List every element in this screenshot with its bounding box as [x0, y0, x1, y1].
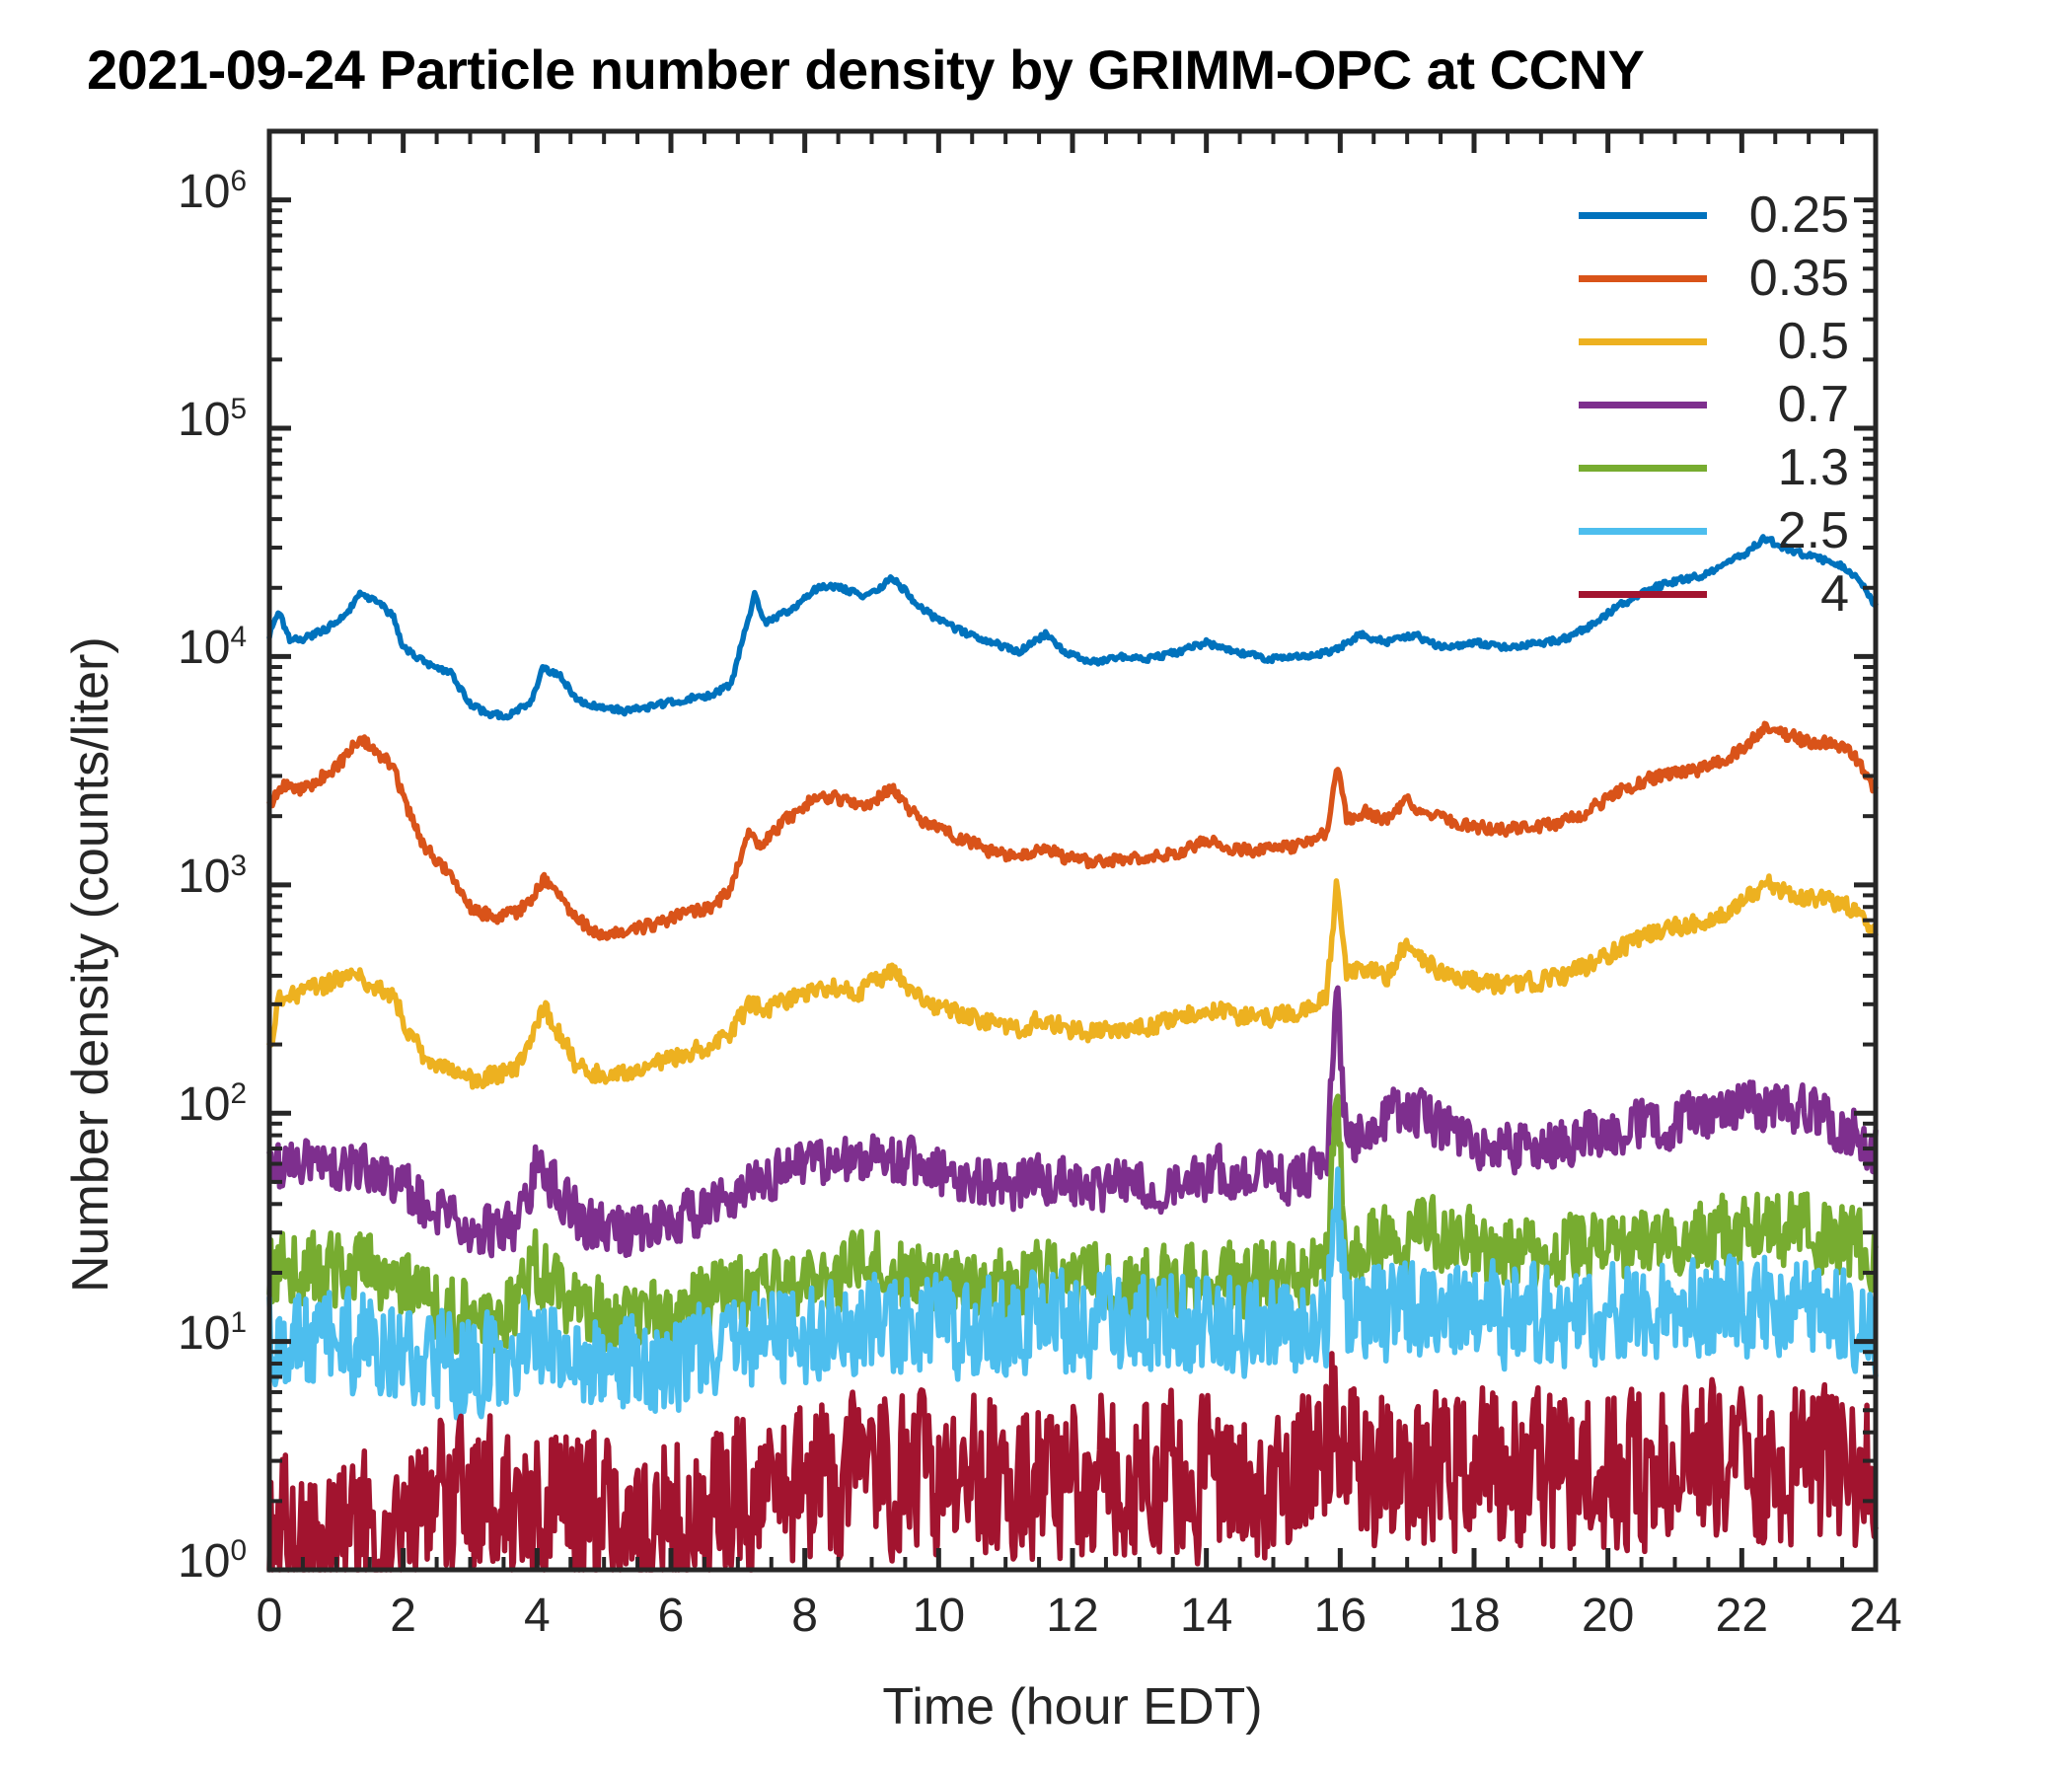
legend-swatch-0-5 — [1579, 338, 1707, 345]
legend-label: 0.35 — [1707, 253, 1855, 304]
legend-item-0-25[interactable]: 0.25 — [1579, 184, 1855, 247]
x-tick-label-10: 10 — [913, 1589, 965, 1643]
x-tick-label-20: 20 — [1582, 1589, 1634, 1643]
legend-label: 0.25 — [1707, 189, 1855, 241]
legend-item-1-3[interactable]: 1.3 — [1579, 436, 1855, 499]
legend-label: 4 — [1707, 568, 1855, 620]
legend-item-2-5[interactable]: 2.5 — [1579, 499, 1855, 562]
legend-label: 0.5 — [1707, 316, 1855, 367]
x-tick-label-14: 14 — [1180, 1589, 1232, 1643]
y-tick-label-1e3: 103 — [0, 851, 247, 901]
series-line-4 — [269, 1354, 1876, 1570]
legend-label: 1.3 — [1707, 442, 1855, 493]
legend-item-0-35[interactable]: 0.35 — [1579, 247, 1855, 310]
x-tick-label-6: 6 — [658, 1589, 685, 1643]
y-tick-label-1e6: 106 — [0, 167, 247, 216]
y-tick-label-1e2: 102 — [0, 1079, 247, 1129]
legend-swatch-0-25 — [1579, 212, 1707, 219]
legend: 0.250.350.50.71.32.54 — [1579, 184, 1855, 626]
x-tick-label-18: 18 — [1447, 1589, 1500, 1643]
x-tick-label-24: 24 — [1849, 1589, 1901, 1643]
legend-swatch-0-7 — [1579, 402, 1707, 408]
x-tick-label-2: 2 — [390, 1589, 416, 1643]
x-tick-label-12: 12 — [1046, 1589, 1098, 1643]
x-tick-label-8: 8 — [791, 1589, 818, 1643]
x-tick-label-4: 4 — [524, 1589, 551, 1643]
series-line-0-35 — [269, 723, 1876, 938]
legend-swatch-1-3 — [1579, 465, 1707, 472]
x-tick-label-0: 0 — [257, 1589, 283, 1643]
figure-canvas: 2021-09-24 Particle number density by GR… — [0, 0, 2072, 1776]
y-tick-label-1e0: 100 — [0, 1536, 247, 1586]
y-tick-label-1e4: 104 — [0, 623, 247, 672]
x-tick-label-16: 16 — [1314, 1589, 1367, 1643]
legend-item-4[interactable]: 4 — [1579, 562, 1855, 626]
legend-item-0-7[interactable]: 0.7 — [1579, 373, 1855, 436]
legend-label: 2.5 — [1707, 505, 1855, 556]
legend-label: 0.7 — [1707, 379, 1855, 430]
y-tick-label-1e1: 101 — [0, 1308, 247, 1358]
legend-swatch-2-5 — [1579, 528, 1707, 535]
x-tick-label-22: 22 — [1716, 1589, 1768, 1643]
legend-swatch-4 — [1579, 591, 1707, 598]
legend-item-0-5[interactable]: 0.5 — [1579, 310, 1855, 373]
y-tick-label-1e5: 105 — [0, 395, 247, 444]
legend-swatch-0-35 — [1579, 275, 1707, 282]
